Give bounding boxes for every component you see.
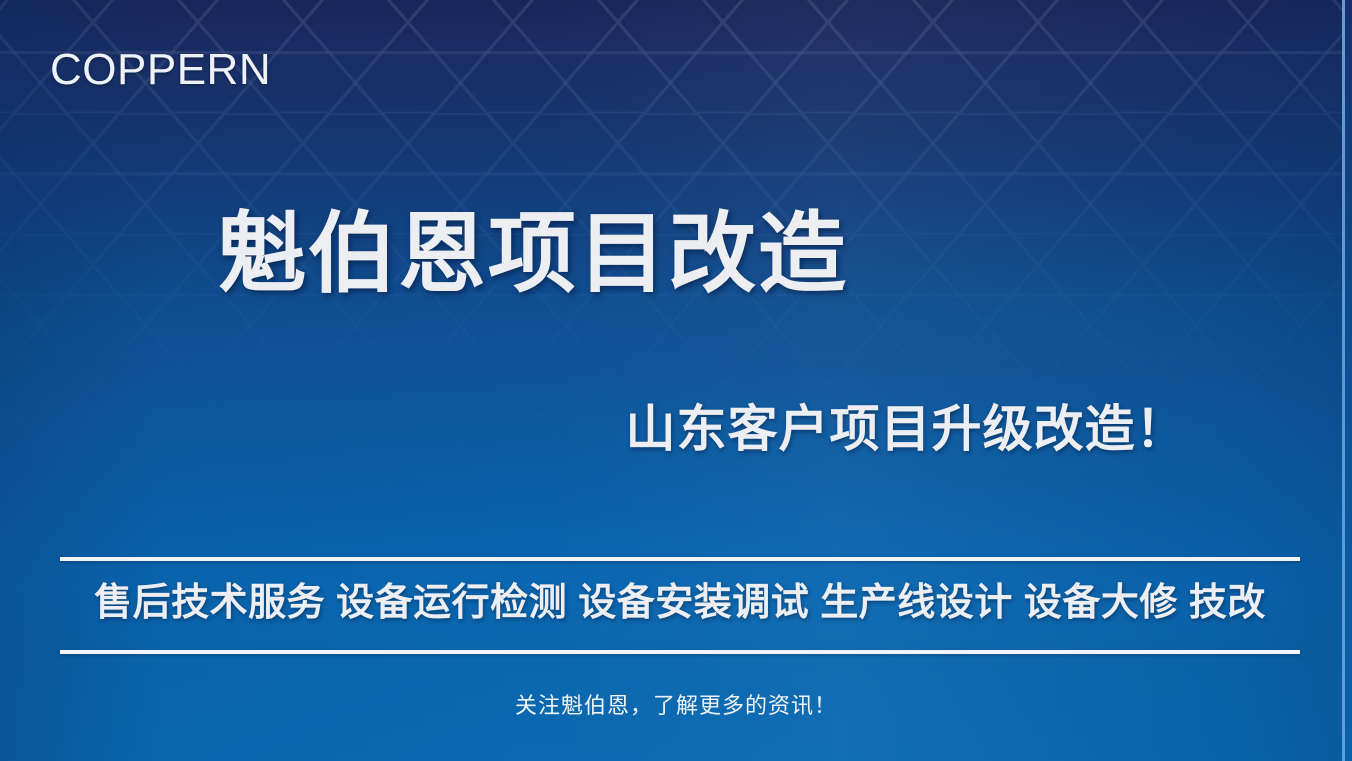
services-list: 售后技术服务 设备运行检测 设备安装调试 生产线设计 设备大修 技改 — [60, 578, 1300, 628]
page-title: 魁伯恩项目改造 — [0, 202, 1352, 306]
background-sheen — [0, 0, 1352, 761]
footer-note: 关注魁伯恩，了解更多的资讯！ — [0, 691, 1352, 721]
right-edge-dark-strip — [1345, 0, 1352, 761]
page-subtitle: 山东客户项目升级改造！ — [0, 398, 1352, 460]
promotional-slide: COPPERN 魁伯恩项目改造 山东客户项目升级改造！ 售后技术服务 设备运行检… — [0, 0, 1352, 761]
brand-logo: COPPERN — [50, 44, 271, 96]
services-divider-bottom — [60, 650, 1300, 654]
services-divider-top — [60, 557, 1300, 561]
